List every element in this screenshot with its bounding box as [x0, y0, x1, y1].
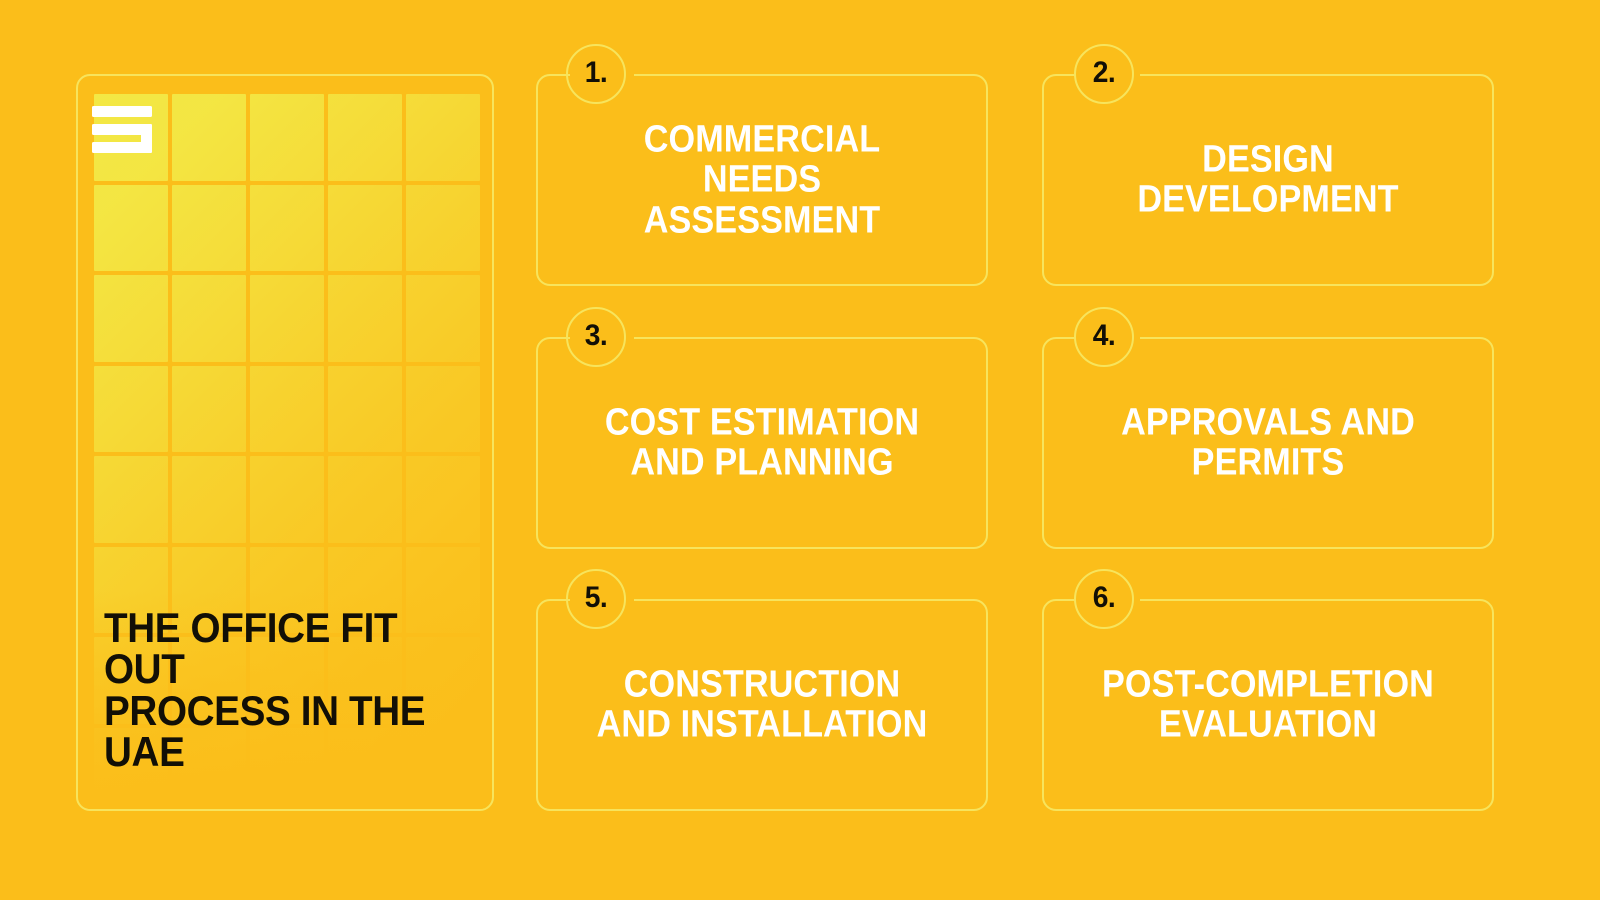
step-label-text: COST ESTIMATION AND PLANNING — [589, 403, 935, 484]
step-label-text: CONSTRUCTION AND INSTALLATION — [589, 665, 935, 746]
grid-tile — [250, 94, 324, 181]
grid-tile — [94, 456, 168, 543]
step-label-text: POST-COMPLETION EVALUATION — [1095, 665, 1441, 746]
steps-grid: 1. COMMERCIAL NEEDS ASSESSMENT 2. DESIGN… — [536, 74, 1536, 811]
step-number-badge: 5. — [566, 569, 626, 629]
grid-tile — [406, 185, 480, 272]
step-number-badge: 3. — [566, 307, 626, 367]
step-number-badge: 4. — [1074, 307, 1134, 367]
grid-tile — [328, 366, 402, 453]
step-label: APPROVALS AND PERMITS — [1076, 403, 1460, 484]
grid-tile — [250, 185, 324, 272]
step-number: 4. — [1093, 321, 1116, 351]
grid-tile — [250, 456, 324, 543]
step-number: 3. — [585, 321, 608, 351]
grid-tile — [250, 366, 324, 453]
page-title: THE OFFICE FIT OUT PROCESS IN THE UAE — [104, 607, 461, 773]
grid-tile — [406, 366, 480, 453]
step-card-5[interactable]: 5. CONSTRUCTION AND INSTALLATION — [536, 599, 988, 811]
grid-tile — [328, 456, 402, 543]
step-number: 2. — [1093, 58, 1116, 88]
step-label: DESIGN DEVELOPMENT — [1076, 140, 1460, 221]
grid-tile — [172, 275, 246, 362]
step-card-4[interactable]: 4. APPROVALS AND PERMITS — [1042, 337, 1494, 549]
step-label: COMMERCIAL NEEDS ASSESSMENT — [570, 120, 954, 241]
step-number: 1. — [585, 58, 608, 88]
step-number: 5. — [585, 583, 608, 613]
grid-tile — [328, 185, 402, 272]
step-card-1[interactable]: 1. COMMERCIAL NEEDS ASSESSMENT — [536, 74, 988, 286]
grid-tile — [328, 275, 402, 362]
grid-tile — [172, 185, 246, 272]
step-label-text: DESIGN DEVELOPMENT — [1095, 140, 1441, 221]
step-label-text: COMMERCIAL NEEDS ASSESSMENT — [589, 120, 935, 241]
step-number-badge: 1. — [566, 44, 626, 104]
grid-tile — [406, 94, 480, 181]
grid-tile — [172, 366, 246, 453]
step-label: POST-COMPLETION EVALUATION — [1076, 665, 1460, 746]
step-card-3[interactable]: 3. COST ESTIMATION AND PLANNING — [536, 337, 988, 549]
step-card-2[interactable]: 2. DESIGN DEVELOPMENT — [1042, 74, 1494, 286]
step-label: CONSTRUCTION AND INSTALLATION — [570, 665, 954, 746]
grid-tile — [94, 366, 168, 453]
infographic-canvas: THE OFFICE FIT OUT PROCESS IN THE UAE 1.… — [0, 0, 1600, 900]
grid-tile — [172, 456, 246, 543]
step-number: 6. — [1093, 583, 1116, 613]
step-number-badge: 2. — [1074, 44, 1134, 104]
grid-tile — [94, 275, 168, 362]
grid-tile — [250, 275, 324, 362]
title-panel: THE OFFICE FIT OUT PROCESS IN THE UAE — [76, 74, 494, 811]
step-label-text: APPROVALS AND PERMITS — [1095, 403, 1441, 484]
step-number-badge: 6. — [1074, 569, 1134, 629]
grid-tile — [172, 94, 246, 181]
grid-tile — [94, 185, 168, 272]
step-label: COST ESTIMATION AND PLANNING — [570, 403, 954, 484]
stacked-bars-logo-icon — [92, 106, 156, 156]
grid-tile — [406, 456, 480, 543]
grid-tile — [328, 94, 402, 181]
step-card-6[interactable]: 6. POST-COMPLETION EVALUATION — [1042, 599, 1494, 811]
grid-tile — [406, 275, 480, 362]
